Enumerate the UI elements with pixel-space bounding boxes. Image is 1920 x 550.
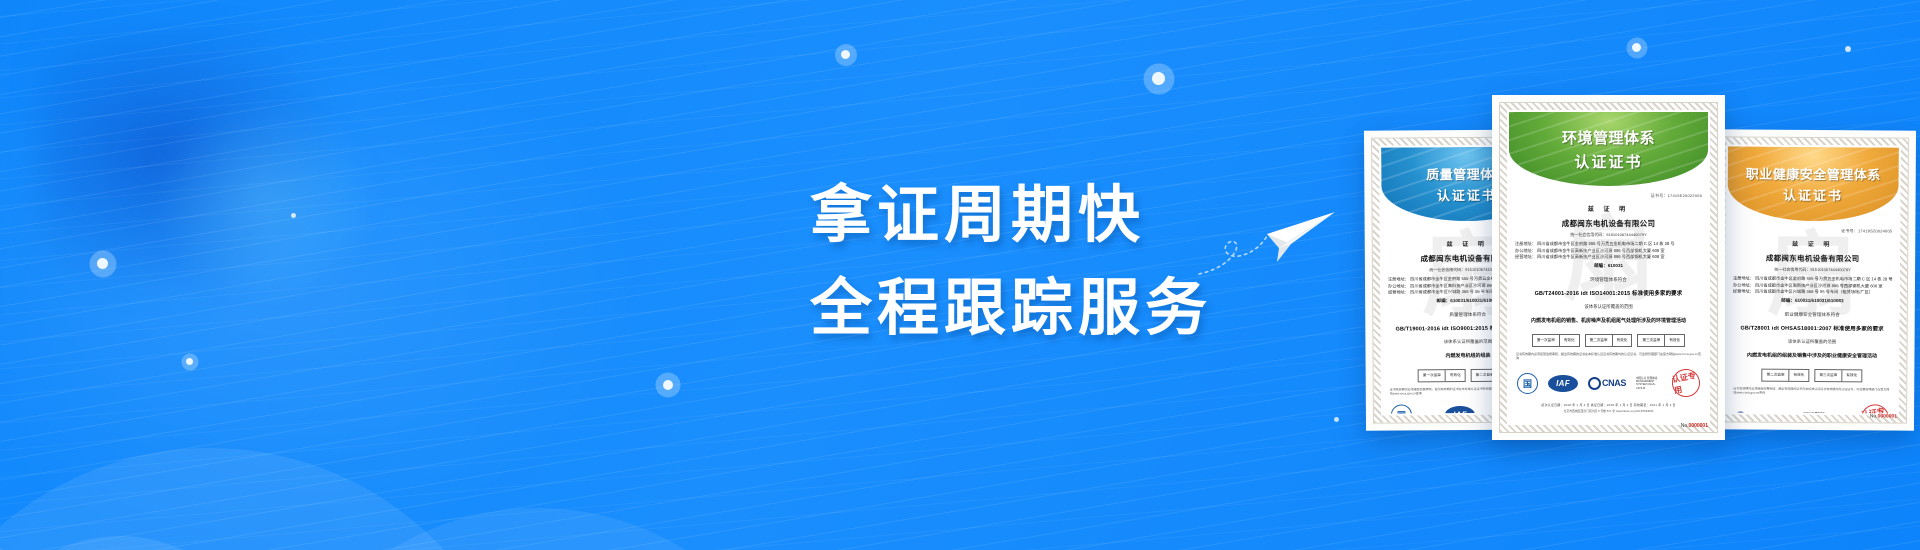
banner-watermark-pattern bbox=[1509, 112, 1708, 186]
decorative-dot bbox=[1334, 417, 1339, 422]
audit-label: 第一次监审 bbox=[1533, 335, 1560, 346]
audit-box: 第三次监审 有效化 bbox=[1814, 369, 1862, 382]
cnas-text: CNAS bbox=[1602, 378, 1626, 388]
iaf-logo: IAF bbox=[1548, 375, 1578, 392]
management-system-logo: 中国认可 管理体系 MANAGEMENT SYSTEM CNAS-C074-M bbox=[1803, 411, 1829, 413]
certificate-company: 成都闽东电机设备有限公司 bbox=[1509, 218, 1708, 229]
certificate-addresses: 注册地址： 四川省成都市金牛区金府路 555 号万贯五金机电市场二期 C 区 1… bbox=[1509, 241, 1708, 261]
headline-line-1: 拿证周期快 bbox=[810, 168, 1212, 261]
audit-box: 第二次监审 有效化 bbox=[1585, 334, 1633, 347]
cert-no-value: 0000001 bbox=[1689, 423, 1708, 429]
certificate-banner: 职业健康安全管理体系 认证证书 bbox=[1727, 146, 1899, 221]
paper-plane-icon bbox=[1195, 190, 1345, 285]
cnas-logo: CNAS bbox=[1588, 377, 1626, 390]
certificate-serial: 证书号：17419S20024005 bbox=[1727, 227, 1892, 234]
credit-code-label: 统一社会信用代码： bbox=[1570, 232, 1606, 237]
certificate-scope: 内燃发电机组的销售、机房噪声及机组尾气处理所涉及的环境管理活动 bbox=[1509, 318, 1708, 325]
iaf-text: IAF bbox=[1453, 410, 1467, 413]
certificate-company: 成都闽东电机设备有限公司 bbox=[1727, 252, 1898, 264]
certificate-scope-label: 该体系认证所覆盖的范围 bbox=[1727, 338, 1898, 345]
audit-box: 第一次监审 有效化 bbox=[1532, 334, 1580, 347]
audit-value: 有效化 bbox=[1790, 369, 1809, 380]
certificate-fine-print: 证书有效期内必须接受监督审核，超出有效期的证书在本标准认证证书有效期内的认证证书… bbox=[1509, 352, 1708, 361]
certificate-environment[interactable]: 扇 环境管理体系 认证证书 证书号：17419E20022005 兹 证 明 成… bbox=[1492, 95, 1725, 440]
audit-label: 第三次监审 bbox=[1815, 370, 1842, 381]
audit-label: 第二次监审 bbox=[1763, 369, 1790, 380]
decorative-dot bbox=[291, 213, 296, 218]
red-seal: 认证专用 bbox=[1859, 402, 1892, 413]
decorative-dot bbox=[663, 380, 673, 390]
audit-value: 有效化 bbox=[1446, 370, 1465, 381]
cert-no-value: 0000001 bbox=[1878, 413, 1898, 419]
certificate-title-line1: 职业健康安全管理体系 bbox=[1746, 164, 1881, 184]
serial-value: 17419S20024005 bbox=[1858, 228, 1892, 233]
cnca-logo: 国 bbox=[1391, 405, 1412, 414]
certificate-serial: 证书号：17419E20022005 bbox=[1509, 193, 1702, 199]
credit-code-value: 91510106744440079Y bbox=[1606, 232, 1647, 237]
certificate-section: 环境管理体系符合 bbox=[1509, 277, 1708, 283]
certificate-number: No.0000001 bbox=[1681, 423, 1708, 429]
decorative-dot bbox=[1845, 46, 1851, 52]
audit-label: 第三次监审 bbox=[1638, 335, 1665, 346]
cnca-glyph: 国 bbox=[1397, 409, 1406, 414]
serial-label: 证书号： bbox=[1841, 228, 1858, 233]
certificate-title-line1: 环境管理体系 bbox=[1562, 127, 1655, 148]
cnca-glyph: 国 bbox=[1523, 377, 1532, 390]
cnas-logo: CNAS bbox=[1734, 411, 1772, 413]
certificate-standard: GB/T24001-2016 idt ISO14001:2015 标准使用多家的… bbox=[1509, 289, 1708, 297]
serial-label: 证书号： bbox=[1651, 193, 1668, 198]
red-seal: 认证专用 bbox=[1670, 367, 1703, 400]
hero-headline: 拿证周期快 全程跟踪服务 bbox=[810, 168, 1212, 354]
certificate-logos: 国 IAF CNAS 中国认可 管理体系 MANAGEMENT SYSTEM C… bbox=[1509, 369, 1708, 397]
certificate-fine-print: 证书有效期内必须接受监督审核，超出有效期的证书在本标准认证证书有效期内的认证证书… bbox=[1726, 386, 1897, 396]
certificate-zip: 邮编：610031 bbox=[1509, 263, 1708, 269]
iaf-logo: IAF bbox=[1445, 406, 1475, 413]
banner-watermark-pattern bbox=[1727, 146, 1899, 221]
audit-value: 有效化 bbox=[1560, 335, 1579, 346]
certificate-banner: 环境管理体系 认证证书 bbox=[1509, 112, 1708, 186]
audit-box: 第二次监审 有效化 bbox=[1762, 368, 1810, 381]
certificate-footer: 北京市西城区西直门南大街 6 号楼 517 室 www.hkcec.org 01… bbox=[1509, 409, 1708, 413]
cert-no-label: No. bbox=[1870, 413, 1878, 419]
certificate-heading: 兹 证 明 bbox=[1509, 204, 1708, 213]
audit-label: 第二次监审 bbox=[1586, 335, 1613, 346]
certificate-standard: GB/T28001 idt OHSAS18001:2007 标准使用多家的要求 bbox=[1727, 323, 1898, 332]
certificate-group: 扇 质量管理体系 认证证书 证书号：17419Q20022005 兹 证 明 成… bbox=[1365, 95, 1920, 495]
certificate-addresses: 注册地址： 四川省成都市金牛区金府路 555 号万贯五金机电市场二期 C 区 1… bbox=[1727, 275, 1898, 296]
certificate-scope-label: 该体系认证所覆盖的范围 bbox=[1509, 304, 1708, 310]
hero-banner: 拿证周期快 全程跟踪服务 扇 质量管理体系 认证证书 bbox=[0, 0, 1920, 550]
audit-value: 有效化 bbox=[1842, 370, 1861, 381]
certificate-title-line2: 认证证书 bbox=[1437, 185, 1497, 204]
address-line: 注册地址： 四川省成都市金牛区金府路 555 号万贯五金机电市场二期 C 区 1… bbox=[1515, 241, 1702, 248]
cnca-logo: 国 bbox=[1517, 373, 1538, 394]
cnas-text: CNAS bbox=[1748, 413, 1772, 414]
certificate-logos: CNAS 中国认可 管理体系 MANAGEMENT SYSTEM CNAS-C0… bbox=[1726, 404, 1897, 414]
iaf-text: IAF bbox=[1556, 379, 1570, 388]
audit-box: 第一次监审 有效化 bbox=[1418, 369, 1466, 382]
certificate-number: No.0000001 bbox=[1870, 413, 1897, 419]
certificate-audit-boxes: 第一次监审 有效化 第二次监审 有效化 第三次监审 有效化 bbox=[1509, 334, 1708, 347]
certificate-heading: 兹 证 明 bbox=[1727, 238, 1898, 248]
audit-box: 第三次监审 有效化 bbox=[1637, 334, 1685, 347]
certificate-occupational-health-safety[interactable]: 扇 职业健康安全管理体系 认证证书 证书号：17419S20024005 兹 证… bbox=[1709, 129, 1916, 430]
address-line: 经营地址： 四川省成都市金牛区兴城路 368 号 55 号车间（租赁场地/厂区） bbox=[1733, 288, 1892, 296]
credit-code-label: 统一社会信用代码： bbox=[1774, 267, 1810, 272]
cert-no-label: No. bbox=[1681, 423, 1689, 429]
certificate-scope: 内燃发电机组的组装及销售中涉及的职业健康安全管理活动 bbox=[1726, 352, 1897, 360]
certificate-title-line2: 认证证书 bbox=[1574, 151, 1642, 172]
decorative-dot bbox=[1152, 72, 1165, 85]
decorative-dot bbox=[186, 358, 193, 365]
cnas-ring bbox=[1734, 411, 1747, 413]
audit-label: 第一次监审 bbox=[1419, 370, 1446, 381]
audit-value: 有效化 bbox=[1665, 335, 1684, 346]
certificate-section: 职业健康安全管理体系符合 bbox=[1727, 311, 1898, 318]
decorative-dot bbox=[97, 258, 108, 269]
decorative-dot bbox=[1632, 43, 1641, 52]
serial-value: 17419E20022005 bbox=[1668, 193, 1702, 198]
decorative-dot bbox=[841, 50, 850, 59]
certificate-dates: 初次认证日期：2018 年 1 月 4 日 换证日期：2018 年 1 月 4 … bbox=[1509, 403, 1708, 407]
certificate-credit-code: 统一社会信用代码：91510106744440079Y bbox=[1727, 266, 1898, 273]
certificate-credit-code: 统一社会信用代码：91510106744440079Y bbox=[1509, 232, 1708, 238]
headline-line-2: 全程跟踪服务 bbox=[810, 261, 1212, 354]
cnas-ring bbox=[1588, 377, 1601, 390]
certificate-audit-boxes: 第二次监审 有效化 第三次监审 有效化 bbox=[1726, 368, 1897, 382]
certificate-zip: 邮编：610031/610031/610083 bbox=[1727, 297, 1898, 304]
address-line: 经营地址： 四川省成都市金牛区高新技产业区沙河源 866 号西部钢机大厦 606… bbox=[1515, 254, 1702, 261]
audit-value: 有效化 bbox=[1613, 335, 1632, 346]
credit-code-value: 91510106744440079Y bbox=[1810, 267, 1851, 272]
credit-code-label: 统一社会信用代码： bbox=[1429, 267, 1465, 272]
certificate-title-line2: 认证证书 bbox=[1783, 185, 1843, 204]
management-system-logo: 中国认可 管理体系 MANAGEMENT SYSTEM CNAS-C074-M bbox=[1636, 377, 1662, 391]
